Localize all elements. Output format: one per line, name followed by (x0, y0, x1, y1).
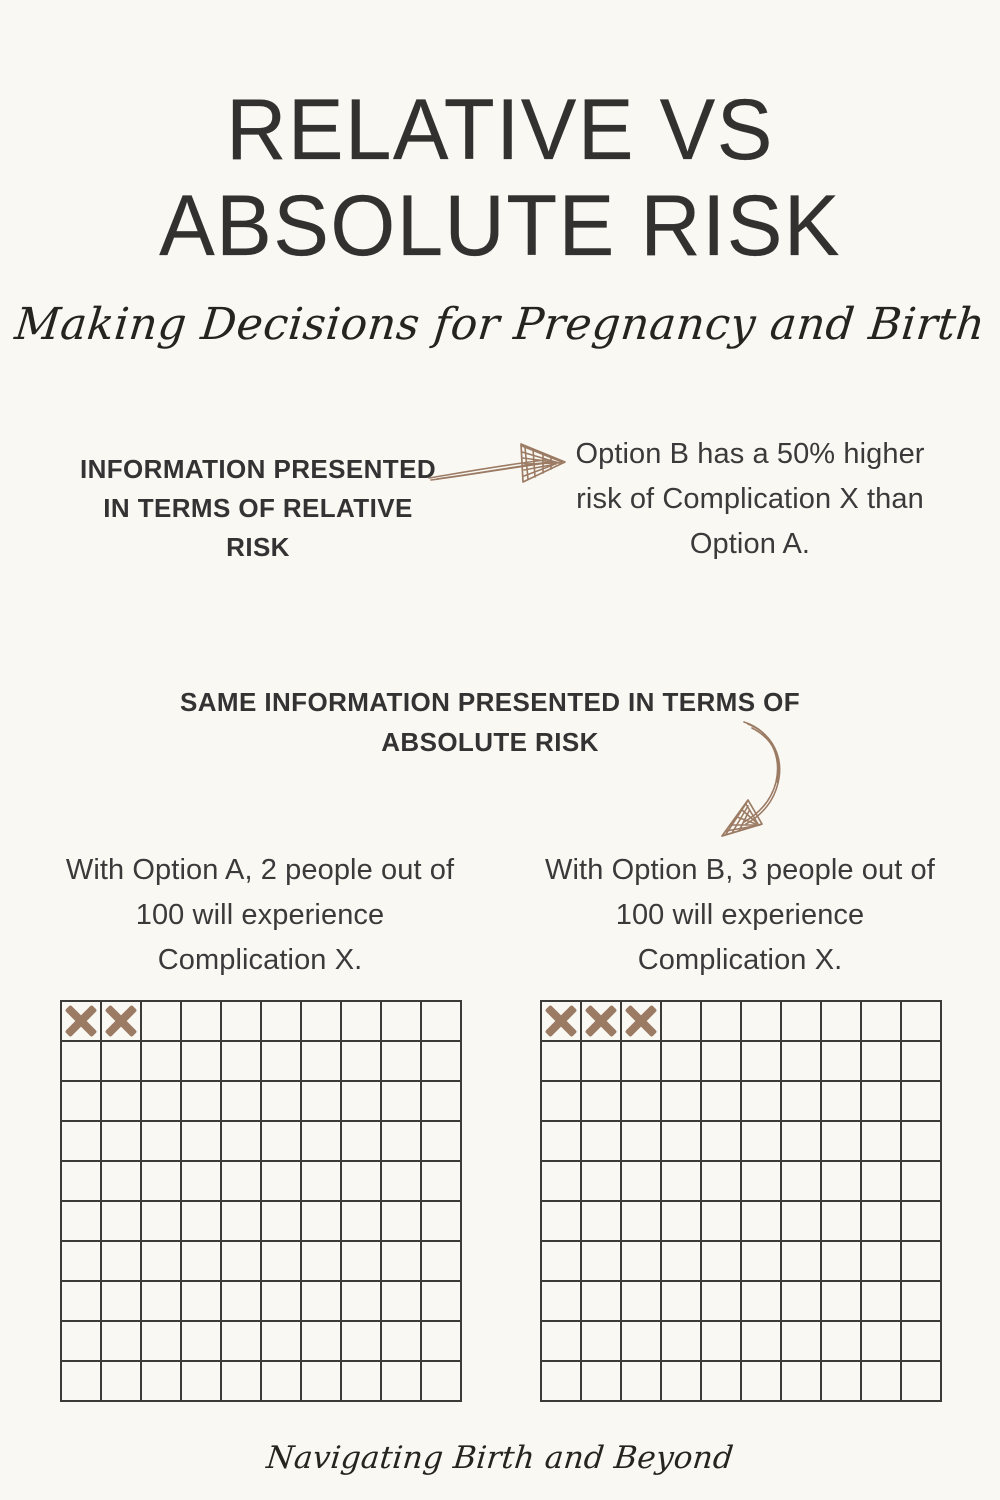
grid-cell (342, 1282, 382, 1322)
grid-cell (662, 1002, 702, 1042)
risk-grid-option-a (60, 1000, 462, 1402)
grid-caption-option-a: With Option A, 2 people out of 100 will … (50, 848, 470, 983)
grid-cell (382, 1122, 422, 1162)
grid-cell (822, 1122, 862, 1162)
grid-cell (382, 1082, 422, 1122)
grid-cell (902, 1322, 942, 1362)
grid-cell (302, 1322, 342, 1362)
grid-cell (542, 1202, 582, 1242)
title-line-2: ABSOLUTE RISK (15, 178, 985, 274)
grid-cell (102, 1282, 142, 1322)
grid-cell (662, 1162, 702, 1202)
grid-cell (142, 1162, 182, 1202)
grid-cell (342, 1162, 382, 1202)
grid-cell (302, 1162, 342, 1202)
grid-cell (342, 1362, 382, 1402)
grid-cell (62, 1362, 102, 1402)
grid-cell (142, 1042, 182, 1082)
grid-cell (62, 1162, 102, 1202)
grid-cell (302, 1362, 342, 1402)
grid-cell (542, 1362, 582, 1402)
grid-cell (182, 1322, 222, 1362)
grid-cell (102, 1242, 142, 1282)
grid-cell (822, 1042, 862, 1082)
grid-cell (222, 1122, 262, 1162)
grid-cell (902, 1122, 942, 1162)
grid-cell (542, 1242, 582, 1282)
grid-cell (382, 1002, 422, 1042)
grid-cell (422, 1282, 462, 1322)
grid-cell (422, 1082, 462, 1122)
grid-cell (542, 1042, 582, 1082)
grid-cell (62, 1042, 102, 1082)
grid-cell (182, 1082, 222, 1122)
grid-cell (542, 1282, 582, 1322)
grid-cell (702, 1162, 742, 1202)
grid-cell (622, 1362, 662, 1402)
grid-cell (742, 1162, 782, 1202)
grid-cell (862, 1162, 902, 1202)
grid-cell-marked (542, 1002, 582, 1042)
arrow-curved-down-left-sketch-icon (700, 712, 810, 842)
grid-cell (662, 1122, 702, 1162)
grid-cell (62, 1322, 102, 1362)
grid-cell (582, 1282, 622, 1322)
grid-cell (382, 1042, 422, 1082)
grid-cell (342, 1002, 382, 1042)
grid-cell (702, 1202, 742, 1242)
grid-cell (782, 1042, 822, 1082)
grid-cell (222, 1162, 262, 1202)
grid-cell (702, 1122, 742, 1162)
grid-cell (582, 1082, 622, 1122)
grid-cell (142, 1282, 182, 1322)
grid-cell (742, 1042, 782, 1082)
grid-cell (782, 1242, 822, 1282)
grid-cell (102, 1322, 142, 1362)
grid-cell (662, 1082, 702, 1122)
grid-cell (862, 1282, 902, 1322)
grid-cell (102, 1042, 142, 1082)
grid-cell (782, 1002, 822, 1042)
grid-cell (142, 1122, 182, 1162)
grid-cell (422, 1122, 462, 1162)
grid-cell (182, 1242, 222, 1282)
grid-cell (542, 1322, 582, 1362)
grid-cell (182, 1202, 222, 1242)
grid-cell (342, 1042, 382, 1082)
grid-cell (902, 1082, 942, 1122)
grid-cell (902, 1202, 942, 1242)
grid-cell (302, 1202, 342, 1242)
grid-cell (662, 1042, 702, 1082)
grid-cell (582, 1162, 622, 1202)
page-title: RELATIVE VS ABSOLUTE RISK (0, 82, 1000, 274)
grid-cell (582, 1202, 622, 1242)
infographic-page: RELATIVE VS ABSOLUTE RISK Making Decisio… (0, 0, 1000, 1500)
grid-cell (342, 1322, 382, 1362)
grid-cell (662, 1322, 702, 1362)
grid-cell (222, 1042, 262, 1082)
grid-cell (422, 1202, 462, 1242)
grid-cell (902, 1242, 942, 1282)
relative-risk-statement: Option B has a 50% higher risk of Compli… (570, 432, 930, 567)
grid-cell (142, 1242, 182, 1282)
grid-cell (822, 1282, 862, 1322)
grid-cell (262, 1282, 302, 1322)
grid-cell (742, 1242, 782, 1282)
grid-cell (822, 1002, 862, 1042)
grid-cell (902, 1002, 942, 1042)
grid-cell (662, 1242, 702, 1282)
grid-cell (742, 1202, 782, 1242)
grid-cell (222, 1242, 262, 1282)
grid-cell (662, 1362, 702, 1402)
grid-cell (62, 1082, 102, 1122)
grid-cell (62, 1202, 102, 1242)
relative-risk-heading: INFORMATION PRESENTED IN TERMS OF RELATI… (78, 450, 438, 567)
grid-cell (222, 1362, 262, 1402)
grid-cell-marked (622, 1002, 662, 1042)
grid-cell (302, 1282, 342, 1322)
grid-cell (222, 1002, 262, 1042)
grid-cell (622, 1282, 662, 1322)
grid-cell (702, 1002, 742, 1042)
grid-cell (622, 1322, 662, 1362)
grid-cell (862, 1002, 902, 1042)
grid-cell (182, 1002, 222, 1042)
grid-cell (382, 1202, 422, 1242)
grid-cell (262, 1362, 302, 1402)
grid-cell-marked (62, 1002, 102, 1042)
grid-cell (622, 1202, 662, 1242)
grid-cell (742, 1322, 782, 1362)
grid-cell (342, 1202, 382, 1242)
grid-cell (342, 1122, 382, 1162)
grid-cell (902, 1162, 942, 1202)
grid-cell (182, 1282, 222, 1322)
grid-cell (62, 1242, 102, 1282)
grid-cell (742, 1282, 782, 1322)
grid-cell (542, 1082, 582, 1122)
grid-cell (702, 1362, 742, 1402)
grid-cell (142, 1322, 182, 1362)
grid-cell (742, 1122, 782, 1162)
grid-cell (382, 1362, 422, 1402)
grid-cell (302, 1242, 342, 1282)
grid-cell (662, 1282, 702, 1322)
grid-cell (262, 1082, 302, 1122)
grid-cell (862, 1122, 902, 1162)
grid-cell (302, 1002, 342, 1042)
footer-signature: Navigating Birth and Beyond (0, 1440, 1000, 1476)
grid-cell (262, 1322, 302, 1362)
grid-cell (262, 1202, 302, 1242)
grid-cell (262, 1162, 302, 1202)
grid-cell (902, 1042, 942, 1082)
grid-cell (102, 1202, 142, 1242)
grid-cell (622, 1242, 662, 1282)
grid-cell (702, 1282, 742, 1322)
grid-cell (862, 1042, 902, 1082)
grid-cell (782, 1322, 822, 1362)
grid-cell (782, 1202, 822, 1242)
grid-cell (742, 1362, 782, 1402)
grid-cell (302, 1122, 342, 1162)
grid-cell (222, 1322, 262, 1362)
grid-cell (742, 1002, 782, 1042)
grid-cell (222, 1282, 262, 1322)
page-subtitle: Making Decisions for Pregnancy and Birth (0, 296, 1000, 354)
grid-cell (782, 1122, 822, 1162)
grid-cell (262, 1242, 302, 1282)
grid-cell (222, 1082, 262, 1122)
grid-cell (822, 1202, 862, 1242)
grid-cell (382, 1242, 422, 1282)
grid-cell (902, 1362, 942, 1402)
grid-cell (182, 1362, 222, 1402)
grid-cell (822, 1242, 862, 1282)
grid-cell (142, 1202, 182, 1242)
grid-cell (622, 1122, 662, 1162)
grid-cell (102, 1362, 142, 1402)
grid-cell (582, 1242, 622, 1282)
grid-cell (662, 1202, 702, 1242)
grid-cell (622, 1042, 662, 1082)
grid-cell (142, 1082, 182, 1122)
grid-cell (782, 1162, 822, 1202)
grid-cell (382, 1162, 422, 1202)
grid-cell (582, 1042, 622, 1082)
grid-cell (422, 1162, 462, 1202)
grid-cell (582, 1322, 622, 1362)
grid-cell (102, 1082, 142, 1122)
risk-grid-option-b (540, 1000, 942, 1402)
grid-cell (262, 1122, 302, 1162)
grid-cell (622, 1162, 662, 1202)
grid-cell (222, 1202, 262, 1242)
grid-cell (422, 1242, 462, 1282)
grid-cell (862, 1322, 902, 1362)
grid-cell (422, 1042, 462, 1082)
grid-cell (862, 1362, 902, 1402)
grid-cell (422, 1002, 462, 1042)
grid-cell (382, 1322, 422, 1362)
grid-cell (342, 1242, 382, 1282)
grid-cell (702, 1322, 742, 1362)
arrow-right-sketch-icon (425, 438, 585, 500)
grid-cell (862, 1082, 902, 1122)
grid-cell (542, 1122, 582, 1162)
grid-cell (182, 1122, 222, 1162)
grid-cell (102, 1162, 142, 1202)
grid-cell-marked (102, 1002, 142, 1042)
grid-cell (422, 1322, 462, 1362)
grid-cell (822, 1322, 862, 1362)
grid-cell (902, 1282, 942, 1322)
grid-cell (62, 1122, 102, 1162)
grid-cell (142, 1362, 182, 1402)
grid-cell (822, 1162, 862, 1202)
grid-cell (102, 1122, 142, 1162)
grid-cell-marked (582, 1002, 622, 1042)
grid-cell (302, 1082, 342, 1122)
grid-cell (302, 1042, 342, 1082)
grid-cell (142, 1002, 182, 1042)
grid-cell (782, 1282, 822, 1322)
grid-caption-option-b: With Option B, 3 people out of 100 will … (530, 848, 950, 983)
grid-cell (542, 1162, 582, 1202)
grid-cell (702, 1082, 742, 1122)
grid-cell (742, 1082, 782, 1122)
grid-cell (822, 1362, 862, 1402)
grid-cell (62, 1282, 102, 1322)
title-line-1: RELATIVE VS (15, 82, 985, 178)
grid-cell (782, 1362, 822, 1402)
grid-cell (782, 1082, 822, 1122)
grid-cell (862, 1202, 902, 1242)
grid-cell (702, 1242, 742, 1282)
grid-cell (822, 1082, 862, 1122)
grid-cell (702, 1042, 742, 1082)
grid-cell (422, 1362, 462, 1402)
grid-cell (582, 1122, 622, 1162)
grid-cell (862, 1242, 902, 1282)
grid-cell (182, 1162, 222, 1202)
grid-cell (622, 1082, 662, 1122)
grid-cell (262, 1042, 302, 1082)
grid-cell (342, 1082, 382, 1122)
grid-cell (582, 1362, 622, 1402)
grid-cell (262, 1002, 302, 1042)
grid-cell (382, 1282, 422, 1322)
grid-cell (182, 1042, 222, 1082)
